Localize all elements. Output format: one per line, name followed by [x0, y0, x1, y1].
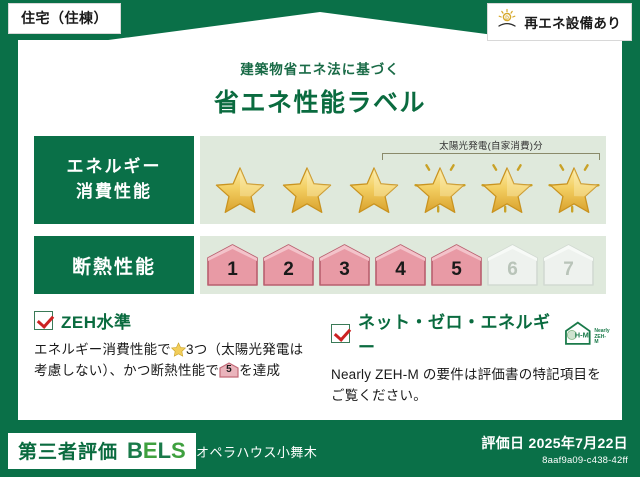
star-2	[275, 156, 340, 218]
net-zero-energy-header: ネット・ゼロ・エネルギー H-M Nearly ZEH-M	[331, 308, 610, 358]
insulation-level-number: 2	[283, 259, 294, 288]
insulation-level-6: 6	[486, 242, 539, 288]
energy-label-line1: エネルギー	[67, 155, 162, 180]
insulation-level-3: 3	[318, 242, 371, 288]
star-4	[408, 156, 473, 218]
third-party-label: 第三者評価	[18, 437, 118, 464]
info-columns: ZEH水準 エネルギー消費性能で3つ（太陽光発電は考慮しない）、かつ断熱性能で5…	[34, 308, 610, 407]
zeh-m-logo: H-M Nearly ZEH-M	[563, 320, 610, 346]
bels-letter-e: E	[143, 438, 158, 463]
renewable-energy-badge: D 再エネ設備あり	[487, 3, 632, 41]
net-zero-energy-section: ネット・ゼロ・エネルギー H-M Nearly ZEH-M Nearly ZEH…	[331, 308, 610, 407]
building-type-tab: 住宅（住棟）	[8, 3, 121, 34]
insulation-level-number: 3	[339, 259, 350, 288]
zeh-standard-section: ZEH水準 エネルギー消費性能で3つ（太陽光発電は考慮しない）、かつ断熱性能で5…	[34, 308, 313, 407]
star-3	[341, 156, 406, 218]
insulation-rating-area: 1 2 3 4 5 6 7	[200, 236, 606, 294]
energy-performance-label: エネルギー 消費性能	[34, 136, 194, 224]
insulation-level-number: 7	[563, 259, 574, 288]
bels-letter-s: S	[171, 438, 186, 463]
energy-performance-row: エネルギー 消費性能 太陽光発電(自家消費)分	[34, 136, 606, 224]
net-zero-energy-body: Nearly ZEH-M の要件は評価書の特記項目をご覧ください。	[331, 365, 610, 407]
insulation-level-2: 2	[262, 242, 315, 288]
insulation-level-number: 4	[395, 259, 406, 288]
insulation-performance-label: 断熱性能	[34, 236, 194, 294]
bels-letter-b: B	[127, 438, 143, 463]
svg-text:H-M: H-M	[574, 330, 588, 339]
star-1	[208, 156, 273, 218]
renewable-badge-label: 再エネ設備あり	[524, 12, 621, 32]
bels-logo: BELS	[127, 438, 186, 464]
insulation-label-text: 断熱性能	[72, 252, 156, 279]
zeh-standard-checkbox	[34, 311, 53, 330]
inline-star-icon	[171, 342, 186, 357]
energy-rating-area: 太陽光発電(自家消費)分	[200, 136, 606, 224]
insulation-level-4: 4	[374, 242, 427, 288]
footer-bar: 第三者評価 BELS オペラハウス小舞木 評価日 2025年7月22日 8aaf…	[0, 425, 640, 477]
evaluation-date: 評価日 2025年7月22日	[481, 433, 628, 453]
zeh-standard-header: ZEH水準	[34, 308, 313, 333]
label-panel: 建築物省エネ法に基づく 省エネ性能ラベル エネルギー 消費性能 太陽光発電(自家…	[18, 40, 622, 420]
star-5	[475, 156, 540, 218]
evaluation-date-value: 2025年7月22日	[528, 435, 628, 451]
insulation-level-scale: 1 2 3 4 5 6 7	[200, 242, 606, 288]
sun-solar-icon: D	[496, 8, 518, 35]
title-block: 建築物省エネ法に基づく 省エネ性能ラベル	[18, 40, 622, 119]
property-name: オペラハウス小舞木	[196, 442, 317, 461]
net-zero-energy-title: ネット・ゼロ・エネルギー	[358, 308, 555, 358]
zeh-standard-body: エネルギー消費性能で3つ（太陽光発電は考慮しない）、かつ断熱性能で5を達成	[34, 340, 313, 382]
solar-annotation-label: 太陽光発電(自家消費)分	[382, 138, 600, 152]
evaluation-date-label: 評価日	[481, 435, 524, 451]
subtitle: 建築物省エネ法に基づく	[18, 58, 622, 78]
zeh-standard-title: ZEH水準	[61, 308, 132, 333]
inline-house-badge-icon: 5	[219, 362, 239, 378]
insulation-level-number: 1	[227, 259, 238, 288]
building-type-label: 住宅（住棟）	[21, 10, 108, 26]
bels-letter-l: L	[158, 438, 171, 463]
energy-label-line2: 消費性能	[76, 180, 152, 205]
insulation-level-number: 5	[451, 259, 462, 288]
zeh-body-part1: エネルギー消費性能で	[34, 342, 171, 357]
bels-certification-plate: 第三者評価 BELS	[8, 433, 196, 469]
svg-text:D: D	[506, 15, 510, 21]
inline-house-number: 5	[219, 362, 239, 378]
evaluation-info: 評価日 2025年7月22日 8aaf9a09-c438-42ff	[481, 433, 628, 466]
insulation-level-1: 1	[206, 242, 259, 288]
zeh-body-part3: を達成	[239, 363, 280, 378]
star-rating	[200, 156, 606, 218]
zeh-m-caption-line2: ZEH-M	[594, 335, 610, 347]
evaluation-id: 8aaf9a09-c438-42ff	[481, 455, 628, 466]
insulation-performance-row: 断熱性能 1 2 3 4 5 6	[34, 236, 606, 294]
page-title: 省エネ性能ラベル	[18, 83, 622, 119]
insulation-level-7: 7	[542, 242, 595, 288]
star-6	[541, 156, 606, 218]
insulation-level-5: 5	[430, 242, 483, 288]
net-zero-energy-checkbox	[331, 324, 350, 343]
insulation-level-number: 6	[507, 259, 518, 288]
